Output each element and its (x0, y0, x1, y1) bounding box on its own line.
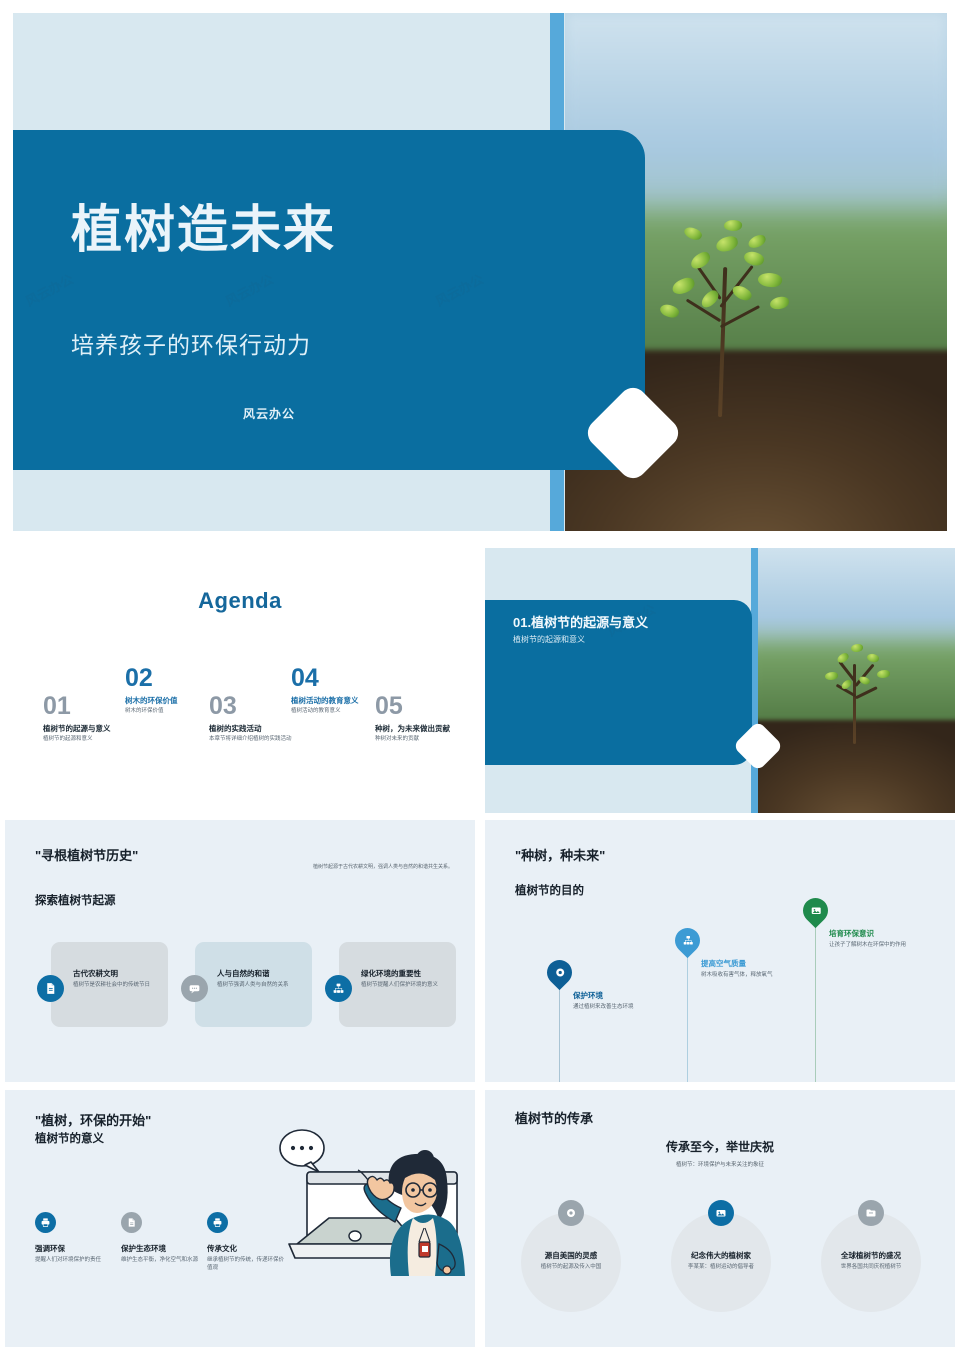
agenda-desc: 种树对未来的贡献 (375, 736, 475, 743)
folder-icon (858, 1200, 884, 1226)
legacy-title: 植树节的传承 (515, 1108, 593, 1127)
history-card-desc: 植树节是农耕社会中的传统节日 (73, 982, 163, 990)
slide-meaning: "植树，环保的开始" 植树节的意义 强调环保 提醒人们对环境保护的责任 (5, 1090, 475, 1347)
history-card-2[interactable]: 人与自然的和谐 植树节强调人类与自然的关系 (195, 942, 312, 1027)
cover-title-card: 风云办公 风云办公 风云办公 植树造未来 培养孩子的环保行动力 风云办公 (13, 130, 645, 470)
section-accent-bar (751, 548, 758, 813)
meaning-desc: 提醒人们对环境保护的责任 (35, 1257, 117, 1265)
purpose-pin-heading: 提高空气质量 (701, 958, 796, 969)
purpose-pin-desc: 通过植树来改善生态环境 (573, 1004, 668, 1012)
history-card-heading: 古代农耕文明 (73, 968, 163, 979)
slide-history: "寻根植树节历史" 植树节起源于古代农耕文明，强调人类与自然的和谐共生关系。 探… (5, 820, 475, 1082)
history-subtitle: 探索植树节起源 (35, 892, 116, 908)
watermark: 风云办公 (22, 269, 77, 310)
purpose-pin-text: 提高空气质量 树木吸收有害气体，释放氧气 (701, 958, 796, 980)
image-icon (798, 893, 833, 928)
purpose-pin-text: 培育环保意识 让孩子了解树木在环保中的作用 (829, 928, 924, 950)
agenda-title: Agenda (5, 588, 475, 614)
agenda-items: 01 植树节的起源与意义 植树节的起源和意义 02 树木的环保价值 树木的环保价… (15, 666, 465, 776)
slide-purpose: "种树，种未来" 植树节的目的 保护环境 通过植树来改善生态环境 (485, 820, 955, 1082)
chat-icon (181, 975, 208, 1002)
agenda-number: 02 (125, 666, 235, 691)
history-quote: "寻根植树节历史" (35, 845, 138, 864)
history-card-text: 绿化环境的重要性 植树节提醒人们保护环境的意义 (361, 968, 451, 990)
slide-deck: 风云办公 风云办公 风云办公 植树造未来 培养孩子的环保行动力 风云办公 Age… (0, 0, 960, 1352)
history-card-text: 古代农耕文明 植树节是农耕社会中的传统节日 (73, 968, 163, 990)
agenda-number: 04 (291, 666, 401, 691)
meaning-item-1[interactable]: 强调环保 提醒人们对环境保护的责任 (35, 1212, 117, 1265)
watermark: 风云办公 (432, 269, 487, 310)
purpose-pin-desc: 树木吸收有害气体，释放氧气 (701, 972, 796, 980)
image-icon (708, 1200, 734, 1226)
history-card-heading: 绿化环境的重要性 (361, 968, 451, 979)
legacy-circle-1[interactable]: 源自美国的灵感 植树节的起源及传入中国 (521, 1212, 621, 1312)
history-card-heading: 人与自然的和谐 (217, 968, 307, 979)
section-photo-sapling (758, 548, 955, 813)
printer-icon (35, 1212, 56, 1233)
location-icon (558, 1200, 584, 1226)
purpose-pin-heading: 保护环境 (573, 990, 668, 1001)
cover-subtitle: 培养孩子的环保行动力 (71, 326, 311, 360)
history-card-desc: 植树节强调人类与自然的关系 (217, 982, 307, 990)
pin-stem (687, 952, 688, 1082)
photo-soil (758, 720, 955, 813)
purpose-pin-text: 保护环境 通过植树来改善生态环境 (573, 990, 668, 1012)
network-icon (670, 923, 705, 958)
purpose-quote: "种树，种未来" (515, 845, 605, 864)
history-note: 植树节起源于古代农耕文明，强调人类与自然的和谐共生关系。 (268, 864, 453, 872)
cover-author: 风云办公 (243, 405, 295, 422)
slide-agenda: Agenda 01 植树节的起源与意义 植树节的起源和意义 02 树木的环保价值… (5, 548, 475, 813)
section-title: 01.植树节的起源与意义 (513, 612, 648, 631)
photo-sapling-plant (853, 743, 854, 744)
watermark: 风云办公 (222, 269, 277, 310)
agenda-desc: 植树节的起源和意义 (43, 736, 153, 743)
meaning-quote: "植树，环保的开始" (35, 1110, 151, 1129)
purpose-subtitle: 植树节的目的 (515, 882, 584, 898)
agenda-heading: 种树，为未来做出贡献 (375, 724, 475, 733)
slide-section-divider: 风云办公 01.植树节的起源与意义 植树节的起源和意义 (485, 548, 955, 813)
meaning-heading: 保护生态环境 (121, 1243, 203, 1254)
agenda-desc: 本章节将详细介绍植树的实践活动 (209, 736, 319, 743)
history-card-text: 人与自然的和谐 植树节强调人类与自然的关系 (217, 968, 307, 990)
meaning-item-2[interactable]: 保护生态环境 维护生态平衡，净化空气和水源 (121, 1212, 203, 1265)
history-card-3[interactable]: 绿化环境的重要性 植树节提醒人们保护环境的意义 (339, 942, 456, 1027)
section-subtitle: 植树节的起源和意义 (513, 634, 585, 645)
pin-stem (559, 984, 560, 1082)
agenda-item-05[interactable]: 05 种树，为未来做出贡献 种树对未来的贡献 (375, 694, 475, 744)
legacy-circle-3[interactable]: 全球植树节的盛况 世界各国共同庆祝植树节 (821, 1212, 921, 1312)
legacy-desc: 植树节的起源及传入中国 (531, 1264, 611, 1272)
network-icon (325, 975, 352, 1002)
pin-stem (815, 922, 816, 1082)
history-cards: 古代农耕文明 植树节是农耕社会中的传统节日 人与自然的和谐 植树 (51, 942, 456, 1027)
speech-bubble-icon (280, 1130, 324, 1172)
legacy-heading: 全球植树节的盛况 (821, 1250, 921, 1261)
photo-sapling-plant (718, 416, 719, 417)
document-icon (37, 975, 64, 1002)
legacy-circles: 源自美国的灵感 植树节的起源及传入中国 纪念伟大的植树家 李某某：植树运动的倡导… (507, 1190, 935, 1320)
meaning-subtitle: 植树节的意义 (35, 1130, 104, 1146)
purpose-pin-heading: 培育环保意识 (829, 928, 924, 939)
agenda-number: 05 (375, 694, 475, 719)
legacy-subtitle: 植树节：环境保护与未来关注的象征 (485, 1160, 955, 1168)
cover-title: 植树造未来 (71, 188, 336, 262)
slide-legacy: 植树节的传承 传承至今，举世庆祝 植树节：环境保护与未来关注的象征 源自美国的灵… (485, 1090, 955, 1347)
agenda-heading: 植树节的起源与意义 (43, 724, 153, 733)
meaning-items: 强调环保 提醒人们对环境保护的责任 保护生态环境 维护生态平衡，净化空气和水源 (35, 1212, 290, 1292)
printer-icon (207, 1212, 228, 1233)
slide-cover: 风云办公 风云办公 风云办公 植树造未来 培养孩子的环保行动力 风云办公 (5, 5, 955, 540)
legacy-desc: 李某某：植树运动的倡导者 (681, 1264, 761, 1272)
document-icon (121, 1212, 142, 1233)
purpose-pin-desc: 让孩子了解树木在环保中的作用 (829, 942, 924, 950)
location-icon (542, 955, 577, 990)
history-card-1[interactable]: 古代农耕文明 植树节是农耕社会中的传统节日 (51, 942, 168, 1027)
legacy-circle-2[interactable]: 纪念伟大的植树家 李某某：植树运动的倡导者 (671, 1212, 771, 1312)
meaning-desc: 维护生态平衡，净化空气和水源 (121, 1257, 203, 1265)
legacy-heading: 纪念伟大的植树家 (671, 1250, 771, 1261)
history-card-desc: 植树节提醒人们保护环境的意义 (361, 982, 451, 990)
legacy-heading: 源自美国的灵感 (521, 1250, 621, 1261)
legacy-headline: 传承至今，举世庆祝 (485, 1138, 955, 1155)
illustration-person-laptop (267, 1126, 472, 1306)
meaning-heading: 强调环保 (35, 1243, 117, 1254)
agenda-heading: 植树的实践活动 (209, 724, 319, 733)
legacy-desc: 世界各国共同庆祝植树节 (831, 1264, 911, 1272)
